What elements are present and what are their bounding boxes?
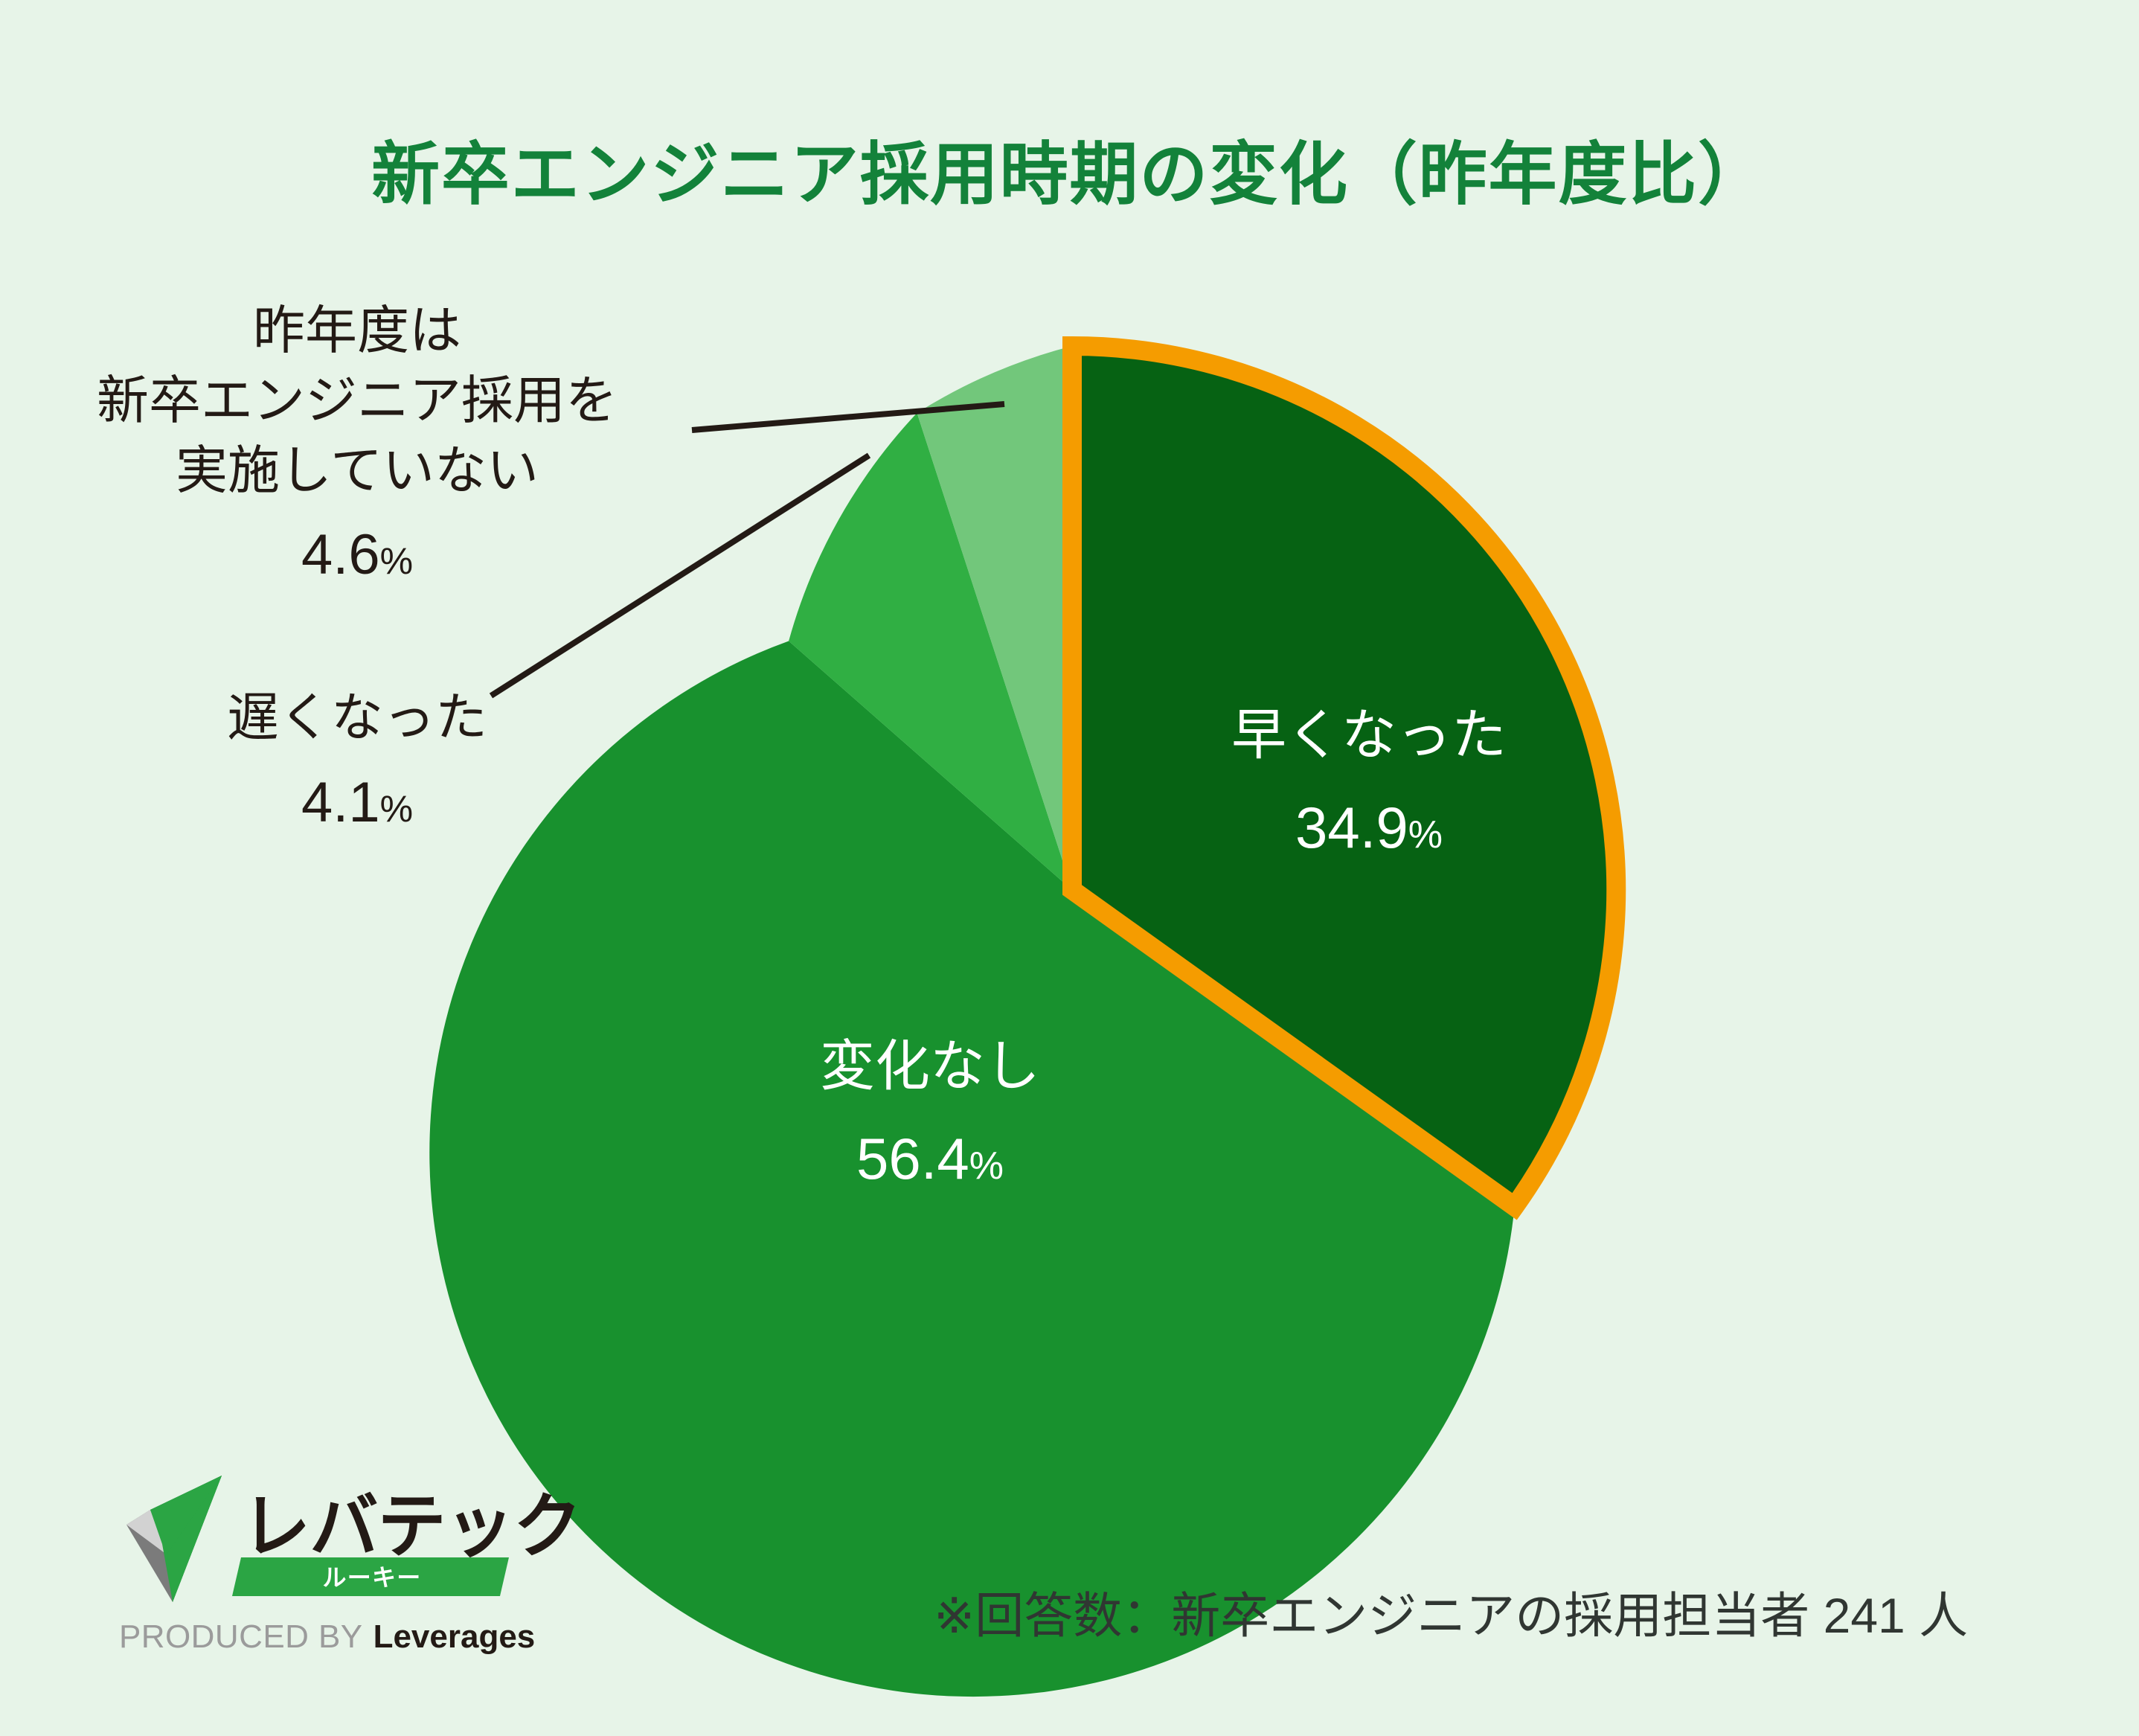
infographic-canvas: 新卒エンジニア採用時期の変化（昨年度比） 早くなった 34.9% 変化なし 56… [0,0,2139,1736]
pie-label-henka-nashi-number: 56.4 [856,1126,969,1191]
pie-label-hayaku-natta-number: 34.9 [1295,795,1408,860]
pie-callout-osoku-natta: 遅くなった 4.1% [126,683,588,841]
brand-logo: レバテック ルーキー PRODUCED BYLeverages [126,1470,632,1678]
pie-label-hayaku-natta: 早くなった 34.9% [1161,699,1577,866]
percent-sign-icon: % [380,540,413,582]
pie-label-hayaku-natta-value: 34.9% [1161,790,1577,865]
pie-callout-jisshi-shiteinai-line3: 実施していない [45,436,670,506]
pie-callout-jisshi-shiteinai-line2: 新卒エンジニア採用を [45,366,670,436]
pie-label-henka-nashi: 変化なし 56.4% [722,1031,1138,1197]
percent-sign-icon: % [1408,813,1443,856]
brand-sub-banner-label: ルーキー [246,1559,498,1596]
check-mark-icon [126,1476,238,1602]
pie-callout-osoku-natta-name: 遅くなった [126,683,588,753]
company-name: Leverages [373,1618,536,1655]
percent-sign-icon: % [380,788,413,830]
brand-name: レバテック [242,1470,581,1572]
pie-callout-jisshi-shiteinai: 昨年度は 新卒エンジニア採用を 実施していない 4.6% [45,296,670,593]
percent-sign-icon: % [969,1144,1004,1188]
produced-by-label: PRODUCED BY [119,1618,363,1655]
produced-by-line: PRODUCED BYLeverages [119,1618,535,1656]
pie-callout-osoku-natta-value: 4.1% [126,765,588,841]
pie-label-henka-nashi-name: 変化なし [722,1031,1138,1102]
respondents-note: ※回答数：新卒エンジニアの採用担当者 241 人 [934,1576,1968,1647]
pie-callout-jisshi-shiteinai-line1: 昨年度は [45,296,670,366]
pie-label-henka-nashi-value: 56.4% [722,1121,1138,1197]
pie-callout-jisshi-shiteinai-number: 4.6 [301,523,380,586]
pie-callout-jisshi-shiteinai-value: 4.6% [45,517,670,593]
pie-callout-osoku-natta-number: 4.1 [301,771,380,834]
pie-label-hayaku-natta-name: 早くなった [1161,699,1577,771]
